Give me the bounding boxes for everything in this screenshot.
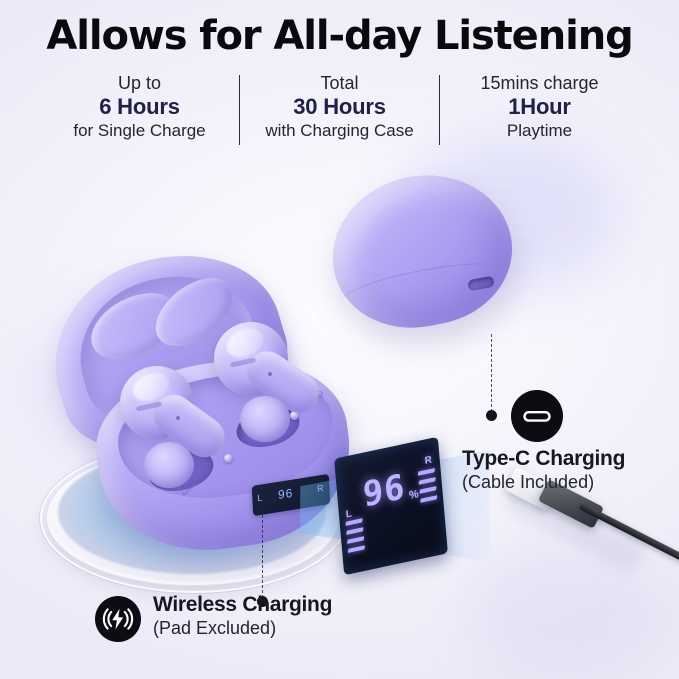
stat-single-charge: Up to 6 Hours for Single Charge — [40, 72, 239, 142]
led-left-bar — [347, 536, 364, 544]
led-right-channel-label: R — [424, 454, 432, 467]
stat-top-label: Total — [240, 72, 439, 94]
led-battery-percent-value: 96 — [361, 467, 407, 516]
usb-c-port-icon — [511, 390, 563, 442]
typec-callout-text: Type-C Charging (Cable Included) — [462, 446, 625, 494]
led-left-bar — [346, 527, 363, 535]
stat-value: 1Hour — [440, 94, 639, 120]
typec-callout-subtitle: (Cable Included) — [462, 471, 625, 494]
led-left-bar — [348, 545, 365, 553]
led-percent-symbol: % — [409, 488, 420, 502]
led-battery-display: L 96 % R — [334, 437, 448, 575]
led-left-channel-label: L — [345, 508, 352, 520]
stat-divider — [239, 75, 240, 145]
wireless-charging-icon — [95, 596, 141, 642]
stat-value: 30 Hours — [240, 94, 439, 120]
typec-leader-dot — [486, 410, 497, 421]
stats-row: Up to 6 Hours for Single Charge Total 30… — [0, 72, 679, 154]
stat-value: 6 Hours — [40, 94, 239, 120]
stat-total-with-case: Total 30 Hours with Charging Case — [240, 72, 439, 142]
led-right-bar — [419, 486, 436, 494]
wireless-callout-text: Wireless Charging (Pad Excluded) — [153, 592, 332, 640]
led-strip-battery: 96 — [278, 486, 294, 502]
typec-callout-title: Type-C Charging — [462, 446, 625, 471]
earbud-tip — [240, 396, 290, 442]
stat-bottom-label: Playtime — [440, 120, 639, 142]
wireless-callout-title: Wireless Charging — [153, 592, 332, 617]
stat-top-label: Up to — [40, 72, 239, 94]
stat-divider — [439, 75, 440, 145]
led-right-bar — [420, 495, 437, 503]
wireless-leader-line — [262, 510, 263, 598]
earbud-microphone-port — [176, 416, 180, 420]
stat-bottom-label: with Charging Case — [240, 120, 439, 142]
led-right-bar — [419, 477, 436, 485]
earbud-tip — [144, 442, 194, 488]
led-strip-left-label: L — [257, 492, 263, 503]
header: Allows for All-day Listening Up to 6 Hou… — [0, 0, 679, 60]
typec-leader-line — [491, 334, 492, 412]
page-title: Allows for All-day Listening — [0, 0, 679, 60]
stat-top-label: 15mins charge — [440, 72, 639, 94]
charging-contact — [224, 454, 233, 463]
type-c-charging-callout: Type-C Charging (Cable Included) — [462, 446, 625, 494]
wireless-charging-callout: Wireless Charging (Pad Excluded) — [95, 592, 332, 640]
closed-charging-case — [319, 160, 524, 342]
led-right-bar — [418, 468, 435, 476]
earbud-microphone-port — [268, 372, 272, 376]
stat-fast-charge: 15mins charge 1Hour Playtime — [440, 72, 639, 142]
wireless-callout-subtitle: (Pad Excluded) — [153, 617, 332, 640]
stat-bottom-label: for Single Charge — [40, 120, 239, 142]
infographic-canvas: Allows for All-day Listening Up to 6 Hou… — [0, 0, 679, 679]
